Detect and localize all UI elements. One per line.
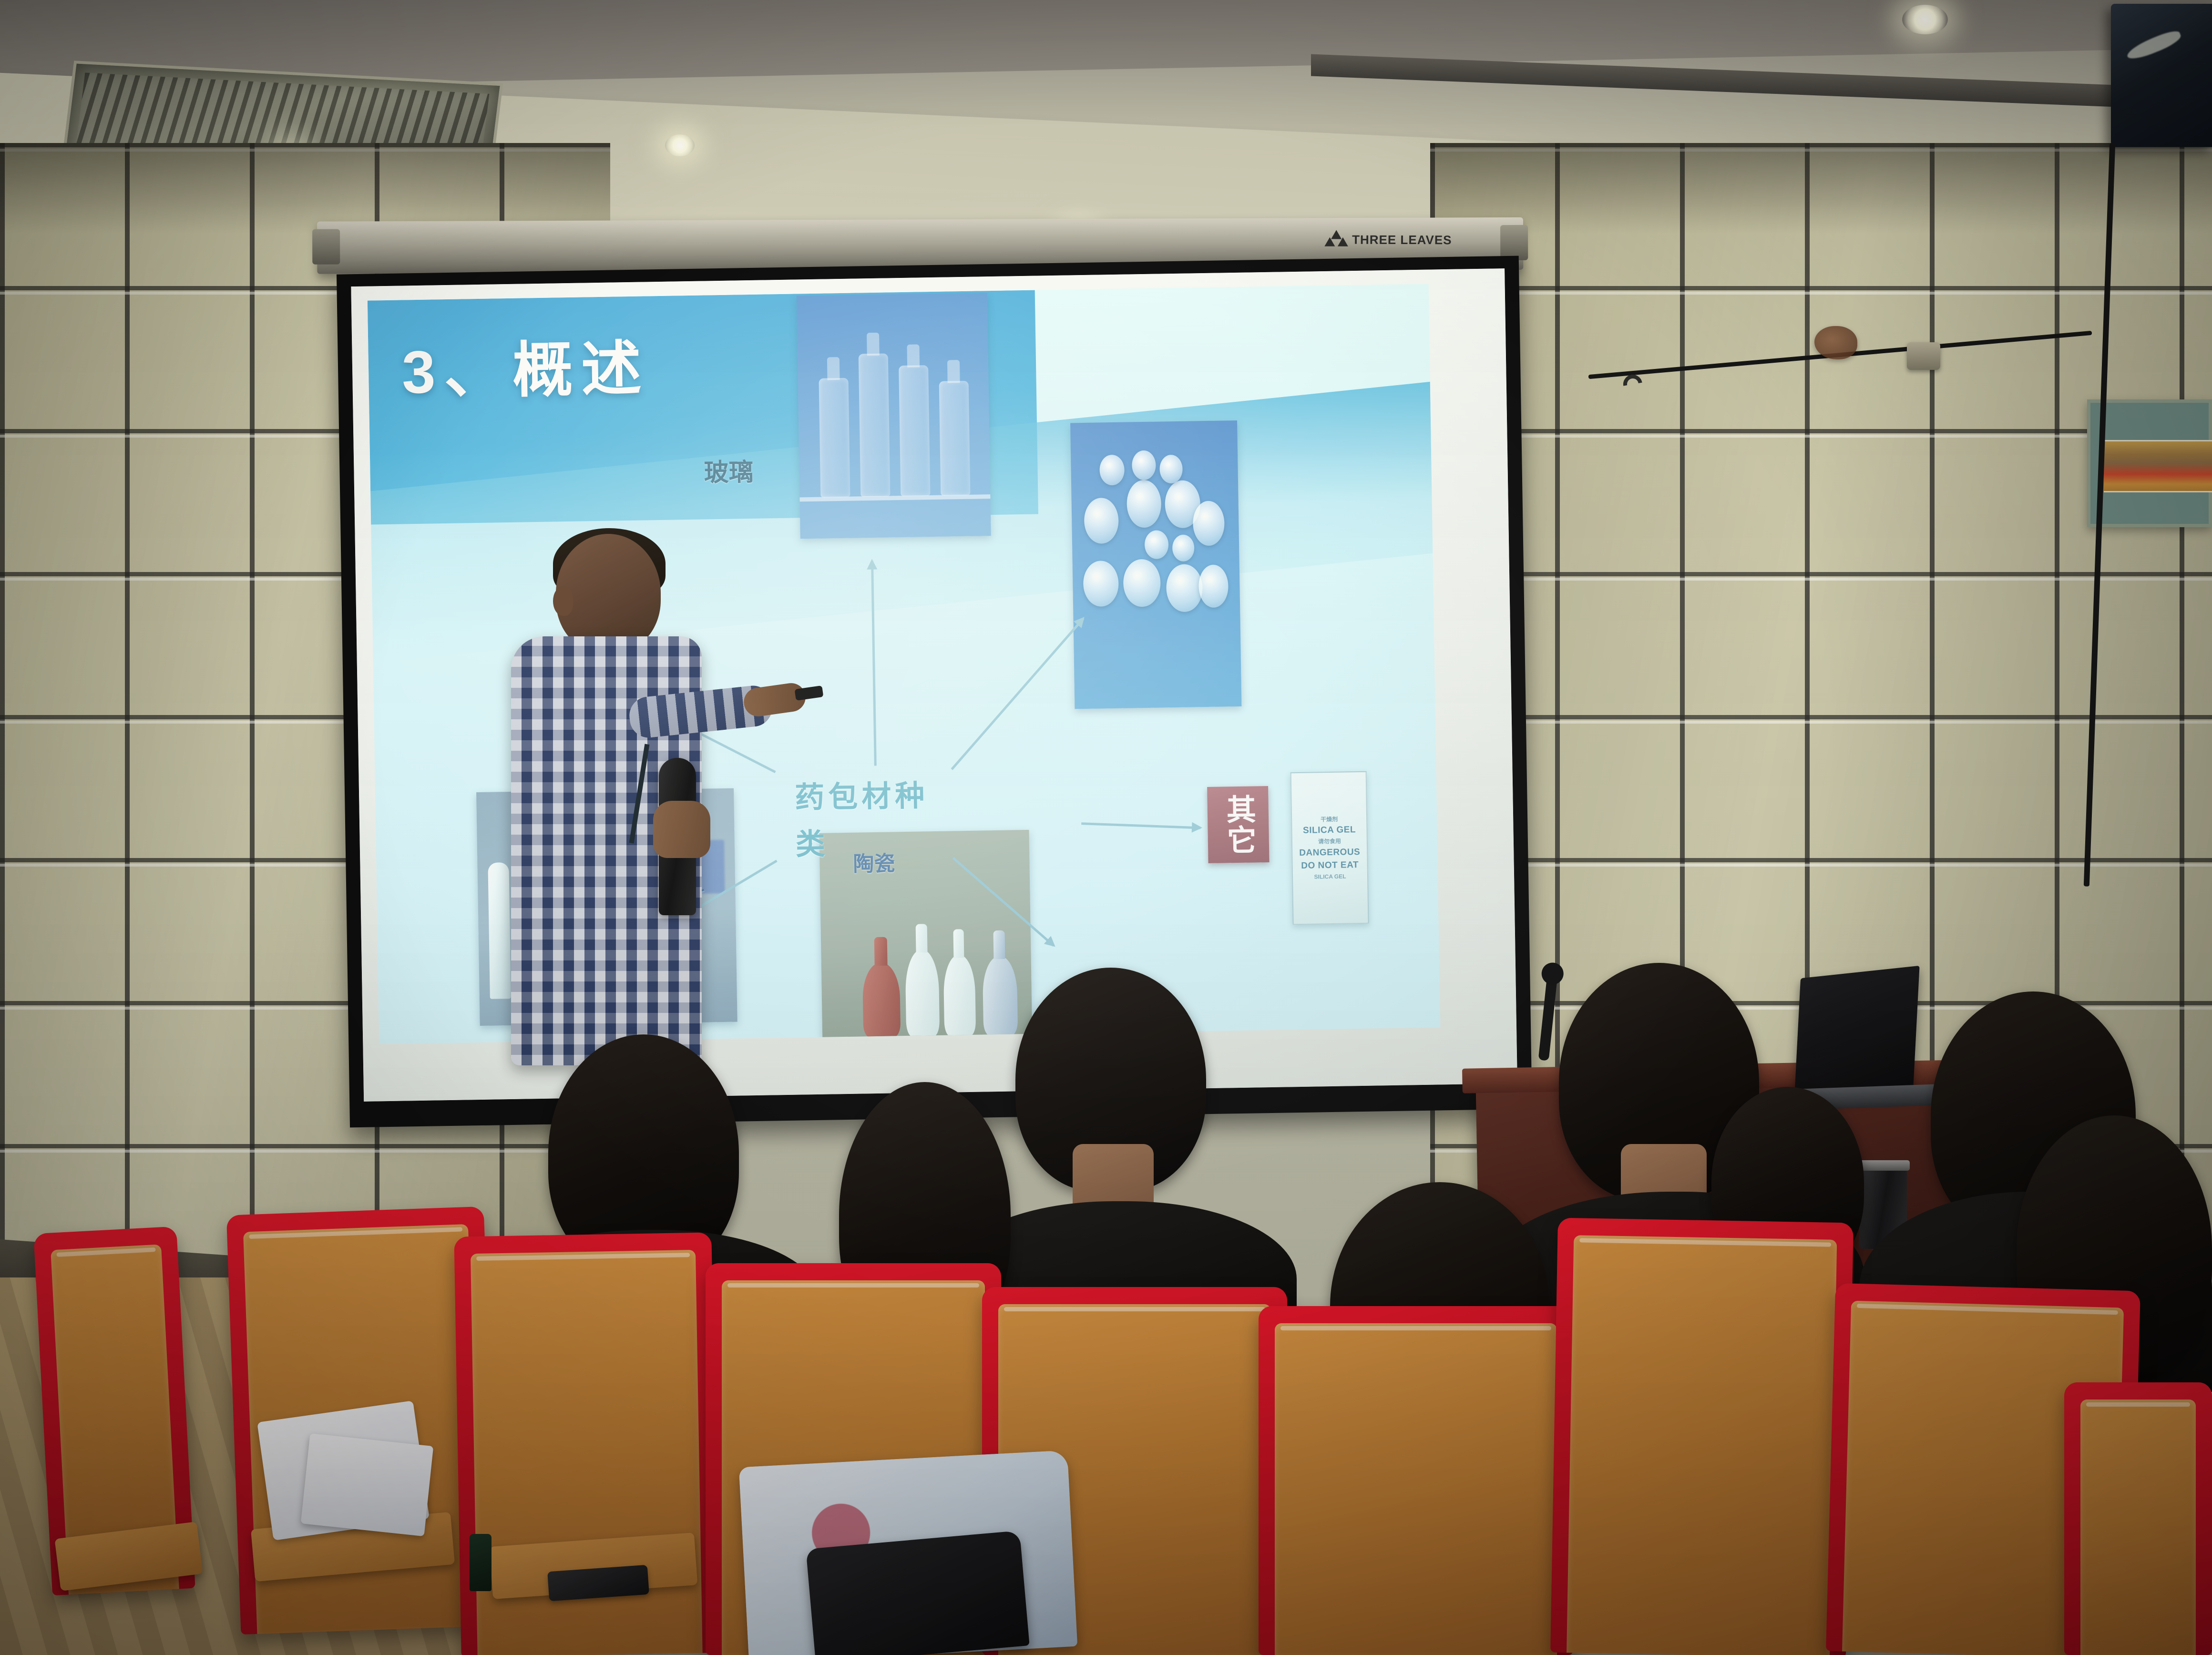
disc-item [1145,530,1169,559]
wall-shadow [0,143,610,234]
silica-gel-sachet: 干燥剂 SILICA GEL 请勿食用 DANGEROUS DO NOT EAT… [1290,771,1369,925]
ceramic-vase [983,956,1018,1035]
disc-item [1172,534,1195,562]
wall-knot-fixture [1814,326,1857,359]
center-label-line1: 药包材种 [795,771,929,816]
projector-logo-text: THREE LEAVES [1352,232,1452,247]
wall-art-banner [2104,440,2212,492]
sachet-line-5: DO NOT EAT [1301,860,1359,871]
vase-neck [916,924,928,952]
sachet-line-6: SILICA GEL [1314,873,1346,880]
roller-cap-left [312,229,340,265]
glass-label: 玻璃 [704,452,754,489]
glass-bottle [859,353,891,497]
sachet-line-4: DANGEROUS [1299,848,1360,858]
sachet-line-2: SILICA GEL [1303,825,1356,836]
slide-title: 3、概述 [401,320,651,410]
lecture-hall-scene: THREE LEAVES 3、概述 [0,0,2212,1655]
other-category-label: 其它 [1223,794,1253,856]
auditorium-seat[interactable] [1259,1306,1573,1655]
disc-item [1198,564,1229,608]
sachet-line-1: 干燥剂 [1321,816,1338,822]
small-bottle[interactable] [470,1534,492,1591]
wall-pipe-fixture [1907,342,1940,370]
auditorium-seat[interactable] [1550,1218,1854,1655]
mitsubishi-three-diamond-icon [1326,230,1346,249]
papers-on-seat[interactable] [301,1433,433,1536]
laptop-screen [1794,966,1919,1103]
center-label-line2: 类 [795,820,825,863]
arrow-to-discs [951,618,1085,770]
presenter-mic-hand [653,801,710,858]
vase-neck [993,930,1005,959]
disc-item [1099,455,1125,486]
arrow-to-other [1081,822,1200,829]
glass-bottle [899,365,930,496]
sachet-line-3: 请勿食用 [1318,838,1341,845]
glass-bottle [939,381,971,496]
projector-brand-logo: THREE LEAVES [1326,230,1452,249]
disc-item [1166,564,1203,612]
ceramic-vase [862,962,901,1037]
ceramic-vases-photo [819,830,1032,1038]
disc-item [1083,561,1119,607]
seat-wood-back [1275,1323,1557,1655]
disc-item [1084,498,1119,544]
wall-shadow [1430,143,2212,234]
ceiling-beam [1311,54,2212,111]
disc-item [1132,450,1156,480]
auditorium-seat[interactable] [2064,1382,2212,1655]
roller-cap-right [1500,225,1528,260]
presenter-ear [553,586,573,616]
vase-neck [953,929,964,958]
ceramic-vase [943,955,976,1036]
downlight-icon [665,134,695,156]
vase-neck [874,937,887,966]
ceramic-label: 陶瓷 [853,846,895,877]
disc-item [1123,559,1161,607]
disc-item [1193,501,1225,546]
glass-bottle [819,378,850,498]
downlight-icon [1902,5,1948,34]
disc-item [1159,455,1183,484]
other-category-box: 其它 [1207,786,1269,863]
black-bag[interactable] [806,1531,1029,1655]
seat-wood-back [2080,1400,2196,1655]
disc-item [1126,480,1162,528]
ceramic-vase [905,950,940,1037]
seat-wood-back [1567,1235,1837,1655]
tablets-discs-photo [1070,420,1241,709]
wall-camera-icon [2111,4,2212,147]
glass-bottles-photo [797,293,991,539]
wall-art-frame [2087,399,2212,527]
